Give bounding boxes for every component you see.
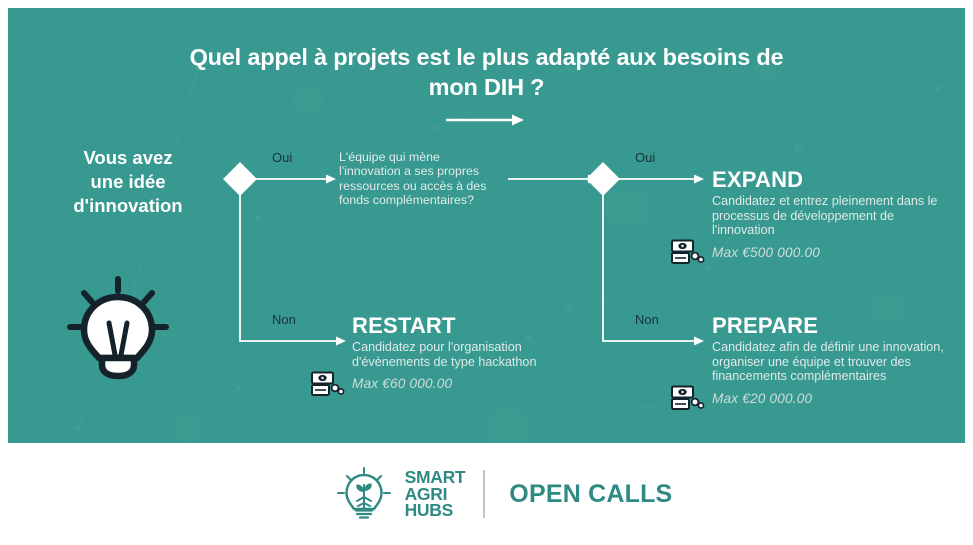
- outcome-expand-description: Candidatez et entrez pleinement dans le …: [712, 194, 944, 238]
- outcome-restart-title: RESTART: [352, 313, 584, 338]
- infographic-canvas: Quel appel à projets est le plus adapté …: [0, 0, 973, 545]
- money-cash-icon: [671, 239, 705, 265]
- outcome-expand-money: Max €500 000.00: [712, 245, 820, 260]
- title-line-2: mon DIH ?: [8, 72, 965, 102]
- arrow-right-icon: [446, 113, 524, 127]
- outcome-prepare-budget: Max €20 000.00: [712, 391, 944, 406]
- outcome-prepare: PREPARE Candidatez afin de définir une i…: [712, 313, 944, 406]
- outcome-expand-title: EXPAND: [712, 167, 944, 192]
- outcome-expand-budget: Max €500 000.00: [712, 245, 944, 260]
- outcome-restart-budget: Max €60 000.00: [352, 376, 584, 391]
- outcome-restart-description: Candidatez pour l'organisation d'évèneme…: [352, 340, 584, 369]
- page-title: Quel appel à projets est le plus adapté …: [8, 42, 965, 102]
- intro-line-2: une idée: [43, 170, 213, 194]
- decision-question-text: L'équipe qui mène l'innovation a ses pro…: [339, 150, 499, 208]
- outcome-restart-money: Max €60 000.00: [352, 376, 452, 391]
- logo-divider: [483, 470, 485, 518]
- outcome-prepare-money: Max €20 000.00: [712, 391, 812, 406]
- branch-label-yes-2: Oui: [635, 150, 655, 166]
- intro-line-3: d'innovation: [43, 194, 213, 218]
- outcome-restart: RESTART Candidatez pour l'organisation d…: [352, 313, 584, 391]
- footer-branding: SMART AGRI HUBS OPEN CALLS: [0, 443, 973, 545]
- logo-wordmark: SMART AGRI HUBS: [405, 469, 466, 519]
- branch-label-no-2: Non: [635, 312, 659, 328]
- logo-word-line-3: HUBS: [405, 502, 466, 519]
- outcome-expand: EXPAND Candidatez et entrez pleinement d…: [712, 167, 944, 260]
- money-cash-icon: [311, 371, 345, 397]
- outcome-prepare-title: PREPARE: [712, 313, 944, 338]
- outcome-prepare-description: Candidatez afin de définir une innovatio…: [712, 340, 944, 384]
- open-calls-label: OPEN CALLS: [509, 480, 672, 509]
- title-line-1: Quel appel à projets est le plus adapté …: [190, 44, 784, 70]
- money-cash-icon: [671, 385, 705, 411]
- smartagrihubs-lightbulb-plant-icon: [335, 465, 393, 523]
- branch-label-no-1: Non: [272, 312, 296, 328]
- lightbulb-icon: [62, 275, 174, 380]
- intro-text: Vous avez une idée d'innovation: [43, 146, 213, 218]
- intro-line-1: Vous avez: [43, 146, 213, 170]
- branch-label-yes-1: Oui: [272, 150, 292, 166]
